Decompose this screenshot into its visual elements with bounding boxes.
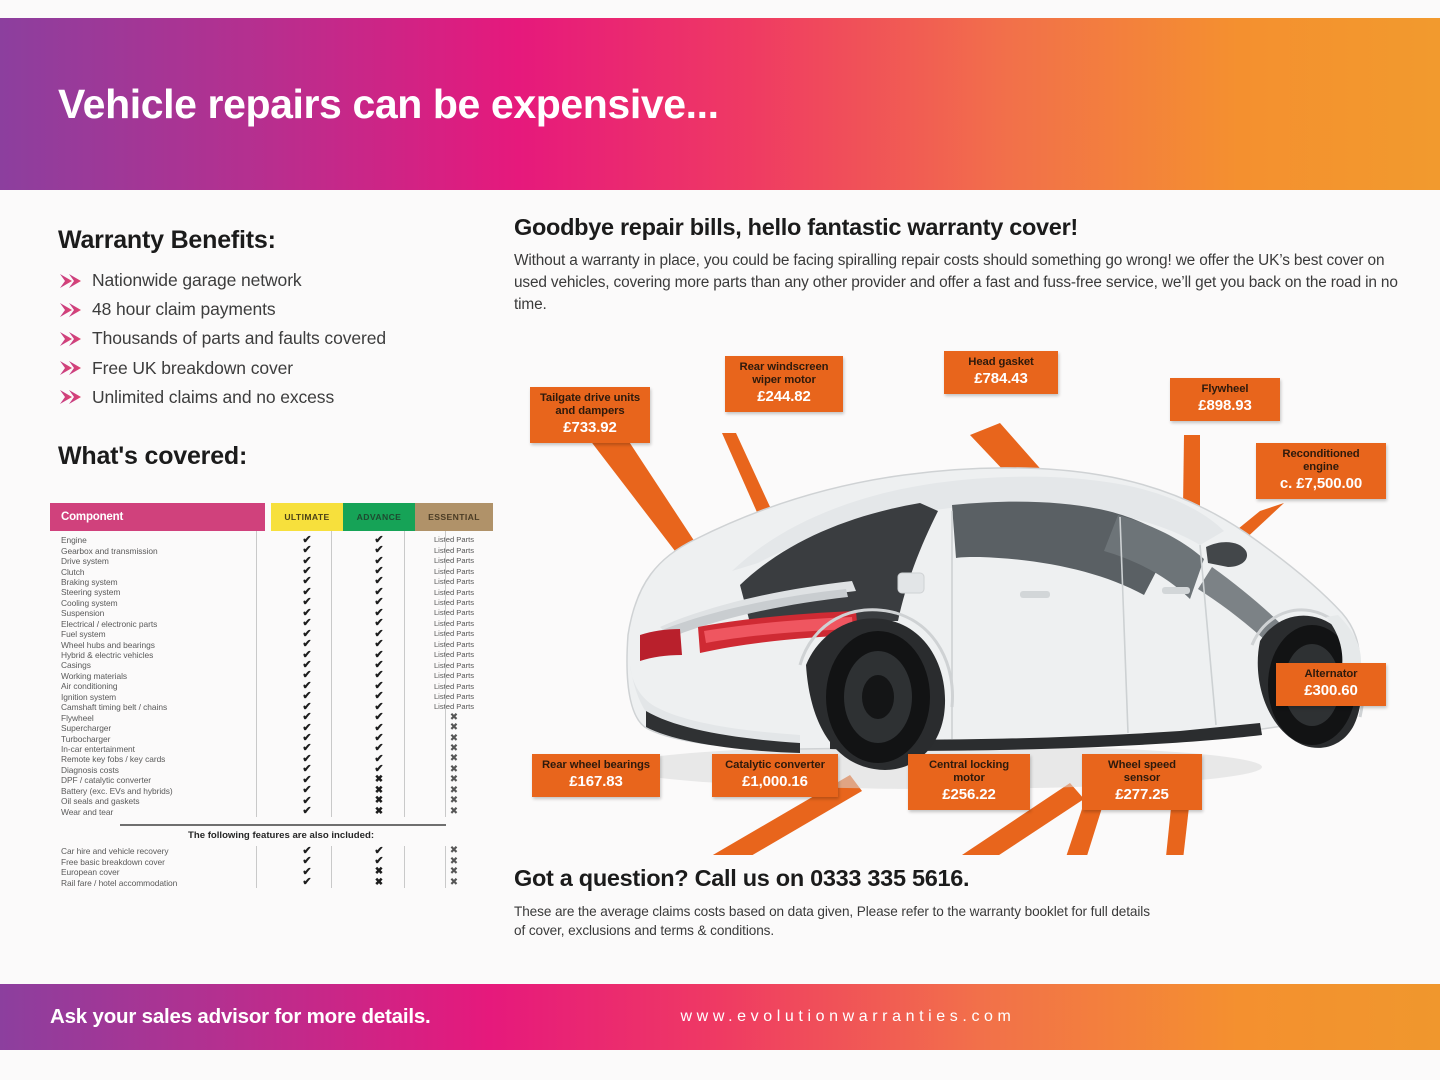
component-name: European cover <box>50 867 265 877</box>
component-name: Casings <box>50 660 265 670</box>
component-name: Drive system <box>50 556 265 566</box>
table-row: In-car entertainment✔✔✖ <box>50 744 446 754</box>
callout-label: Tailgate drive units and dampers <box>538 392 642 418</box>
coverage-table-body: Engine✔✔Listed PartsGearbox and transmis… <box>50 531 446 817</box>
component-name: Free basic breakdown cover <box>50 857 265 867</box>
component-name: Flywheel <box>50 713 265 723</box>
table-row: Fuel system✔✔Listed Parts <box>50 629 446 639</box>
table-row: Clutch✔✔Listed Parts <box>50 566 446 576</box>
callout-price: £898.93 <box>1178 397 1272 415</box>
callout-price: £244.82 <box>733 388 835 406</box>
table-row: Supercharger✔✔✖ <box>50 723 446 733</box>
callout-label: Flywheel <box>1178 383 1272 396</box>
coverage-table: Component ULTIMATE ADVANCE ESSENTIAL Eng… <box>50 503 446 888</box>
footer-website[interactable]: www.evolutionwarranties.com <box>681 1008 1016 1026</box>
component-name: Working materials <box>50 671 265 681</box>
coverage-mark: ✖ <box>415 775 493 785</box>
callout-wheel-speed-sensor[interactable]: Wheel speed sensor £277.25 <box>1082 754 1202 810</box>
callout-price: £1,000.16 <box>720 773 830 791</box>
callout-price: £256.22 <box>916 786 1022 804</box>
table-row: Steering system✔✔Listed Parts <box>50 587 446 597</box>
component-name: Battery (exc. EVs and hybrids) <box>50 786 265 796</box>
table-row: Air conditioning✔✔Listed Parts <box>50 681 446 691</box>
coverage-mark: Listed Parts <box>415 568 493 576</box>
coverage-mark: ✖ <box>415 878 493 888</box>
callout-price: £277.25 <box>1090 786 1194 804</box>
benefit-label: Thousands of parts and faults covered <box>92 328 386 349</box>
column-header-advance: ADVANCE <box>343 503 415 531</box>
component-name: DPF / catalytic converter <box>50 775 265 785</box>
component-name: Remote key fobs / key cards <box>50 754 265 764</box>
footer-banner: Ask your sales advisor for more details.… <box>0 984 1440 1050</box>
warranty-benefits-title: Warranty Benefits: <box>58 226 276 255</box>
callout-label: Reconditioned engine <box>1264 448 1378 474</box>
left-column: Warranty Benefits: Nationwide garage net… <box>0 190 500 970</box>
table-row: Free basic breakdown cover✔✔✖ <box>50 856 446 867</box>
component-name: Wheel hubs and bearings <box>50 640 265 650</box>
callout-rear-windscreen-wiper-motor[interactable]: Rear windscreen wiper motor £244.82 <box>725 356 843 412</box>
component-name: Wear and tear <box>50 807 265 817</box>
callout-tailgate[interactable]: Tailgate drive units and dampers £733.92 <box>530 387 650 443</box>
coverage-mark: Listed Parts <box>415 557 493 565</box>
component-name: In-car entertainment <box>50 744 265 754</box>
coverage-mark: Listed Parts <box>415 683 493 691</box>
callout-flywheel[interactable]: Flywheel £898.93 <box>1170 378 1280 421</box>
chevron-right-icon <box>58 273 84 289</box>
coverage-extras-body: Car hire and vehicle recovery✔✔✖Free bas… <box>50 846 446 888</box>
callout-label: Alternator <box>1284 668 1378 681</box>
component-name: Supercharger <box>50 723 265 733</box>
benefit-label: Free UK breakdown cover <box>92 358 293 379</box>
coverage-mark: Listed Parts <box>415 589 493 597</box>
benefit-item: Free UK breakdown cover <box>58 354 478 383</box>
footer-message: Ask your sales advisor for more details. <box>50 1005 431 1029</box>
coverage-mark: ✖ <box>415 857 493 867</box>
coverage-mark: Listed Parts <box>415 651 493 659</box>
whats-covered-title: What's covered: <box>58 442 247 471</box>
callout-central-locking-motor[interactable]: Central locking motor £256.22 <box>908 754 1030 810</box>
callout-price: £784.43 <box>952 370 1050 388</box>
table-row: Wheel hubs and bearings✔✔Listed Parts <box>50 639 446 649</box>
table-row: Wear and tear✔✖✖ <box>50 806 446 816</box>
right-heading: Goodbye repair bills, hello fantastic wa… <box>514 214 1078 241</box>
table-row: Engine✔✔Listed Parts <box>50 535 446 545</box>
column-header-essential: ESSENTIAL <box>415 503 493 531</box>
benefit-item: Nationwide garage network <box>58 266 478 295</box>
table-row: Gearbox and transmission✔✔Listed Parts <box>50 545 446 555</box>
coverage-mark: ✖ <box>415 754 493 764</box>
coverage-mark: Listed Parts <box>415 620 493 628</box>
component-name: Clutch <box>50 567 265 577</box>
component-name: Diagnosis costs <box>50 765 265 775</box>
table-row: Suspension✔✔Listed Parts <box>50 608 446 618</box>
callout-alternator[interactable]: Alternator £300.60 <box>1276 663 1386 706</box>
table-row: Flywheel✔✔✖ <box>50 712 446 722</box>
callout-rear-wheel-bearings[interactable]: Rear wheel bearings £167.83 <box>532 754 660 797</box>
table-row: Hybrid & electric vehicles✔✔Listed Parts <box>50 650 446 660</box>
component-name: Steering system <box>50 587 265 597</box>
coverage-mark: ✖ <box>415 807 493 817</box>
callout-price: £167.83 <box>540 773 652 791</box>
callout-head-gasket[interactable]: Head gasket £784.43 <box>944 351 1058 394</box>
warranty-benefits-list: Nationwide garage network48 hour claim p… <box>58 266 478 412</box>
coverage-mark: ✖ <box>415 867 493 877</box>
table-row: Working materials✔✔Listed Parts <box>50 671 446 681</box>
coverage-mark: Listed Parts <box>415 536 493 544</box>
chevron-right-icon <box>58 302 84 318</box>
table-row: Cooling system✔✔Listed Parts <box>50 598 446 608</box>
table-row: Turbocharger✔✔✖ <box>50 733 446 743</box>
component-name: Braking system <box>50 577 265 587</box>
component-name: Car hire and vehicle recovery <box>50 846 265 856</box>
table-row: European cover✔✖✖ <box>50 867 446 878</box>
table-row: Oil seals and gaskets✔✖✖ <box>50 796 446 806</box>
table-row: Remote key fobs / key cards✔✔✖ <box>50 754 446 764</box>
chevron-right-icon <box>58 389 84 405</box>
column-header-ultimate: ULTIMATE <box>271 503 343 531</box>
coverage-mark: Listed Parts <box>415 547 493 555</box>
component-name: Air conditioning <box>50 681 265 691</box>
table-row: Casings✔✔Listed Parts <box>50 660 446 670</box>
table-divider <box>120 824 446 826</box>
coverage-mark: ✖ <box>415 796 493 806</box>
car-illustration <box>618 468 1363 789</box>
right-body-text: Without a warranty in place, you could b… <box>514 250 1404 316</box>
table-row: Braking system✔✔Listed Parts <box>50 577 446 587</box>
table-row: Camshaft timing belt / chains✔✔Listed Pa… <box>50 702 446 712</box>
coverage-mark: Listed Parts <box>415 641 493 649</box>
page-title: Vehicle repairs can be expensive... <box>58 81 719 128</box>
poster-page: Vehicle repairs can be expensive... Warr… <box>0 0 1440 1080</box>
callout-reconditioned-engine[interactable]: Reconditioned engine c. £7,500.00 <box>1256 443 1386 499</box>
coverage-mark: ✖ <box>415 846 493 856</box>
coverage-mark: ✔ <box>271 877 343 888</box>
callout-label: Catalytic converter <box>720 759 830 772</box>
component-name: Turbocharger <box>50 734 265 744</box>
component-name: Oil seals and gaskets <box>50 796 265 806</box>
table-row: Electrical / electronic parts✔✔Listed Pa… <box>50 619 446 629</box>
chevron-right-icon <box>58 360 84 376</box>
coverage-mark: Listed Parts <box>415 662 493 670</box>
callout-label: Wheel speed sensor <box>1090 759 1194 785</box>
component-name: Ignition system <box>50 692 265 702</box>
right-column: Goodbye repair bills, hello fantastic wa… <box>500 190 1440 970</box>
header-banner: Vehicle repairs can be expensive... <box>0 18 1440 190</box>
coverage-mark: ✖ <box>415 723 493 733</box>
callout-price: £733.92 <box>538 419 642 437</box>
component-name: Fuel system <box>50 629 265 639</box>
coverage-mark: ✔ <box>271 806 343 817</box>
benefit-label: Nationwide garage network <box>92 270 302 291</box>
table-row: Diagnosis costs✔✔✖ <box>50 765 446 775</box>
column-header-component: Component <box>50 503 265 531</box>
component-name: Engine <box>50 535 265 545</box>
component-name: Suspension <box>50 608 265 618</box>
benefit-item: Unlimited claims and no excess <box>58 383 478 412</box>
benefit-label: Unlimited claims and no excess <box>92 387 334 408</box>
table-row: Drive system✔✔Listed Parts <box>50 556 446 566</box>
coverage-mark: Listed Parts <box>415 630 493 638</box>
component-name: Rail fare / hotel accommodation <box>50 878 265 888</box>
table-row: Car hire and vehicle recovery✔✔✖ <box>50 846 446 857</box>
callout-price: £300.60 <box>1284 682 1378 700</box>
component-name: Cooling system <box>50 598 265 608</box>
coverage-mark: Listed Parts <box>415 609 493 617</box>
table-row: Battery (exc. EVs and hybrids)✔✖✖ <box>50 786 446 796</box>
callout-label: Rear windscreen wiper motor <box>733 361 835 387</box>
component-name: Electrical / electronic parts <box>50 619 265 629</box>
coverage-mark: Listed Parts <box>415 703 493 711</box>
component-name: Hybrid & electric vehicles <box>50 650 265 660</box>
coverage-mark: Listed Parts <box>415 693 493 701</box>
contact-cta: Got a question? Call us on 0333 335 5616… <box>514 865 969 892</box>
chevron-right-icon <box>58 331 84 347</box>
coverage-table-header: Component ULTIMATE ADVANCE ESSENTIAL <box>50 503 446 531</box>
callout-price: c. £7,500.00 <box>1264 475 1378 493</box>
coverage-mark: Listed Parts <box>415 578 493 586</box>
coverage-mark: Listed Parts <box>415 599 493 607</box>
coverage-mark: Listed Parts <box>415 672 493 680</box>
callout-catalytic-converter[interactable]: Catalytic converter £1,000.16 <box>712 754 838 797</box>
benefit-item: Thousands of parts and faults covered <box>58 324 478 353</box>
benefit-label: 48 hour claim payments <box>92 299 276 320</box>
disclaimer-text: These are the average claims costs based… <box>514 902 1154 940</box>
extras-title: The following features are also included… <box>116 830 446 841</box>
table-row: Ignition system✔✔Listed Parts <box>50 692 446 702</box>
table-row: Rail fare / hotel accommodation✔✖✖ <box>50 878 446 889</box>
callout-label: Head gasket <box>952 356 1050 369</box>
benefit-item: 48 hour claim payments <box>58 295 478 324</box>
callout-label: Central locking motor <box>916 759 1022 785</box>
component-name: Gearbox and transmission <box>50 546 265 556</box>
table-row: DPF / catalytic converter✔✖✖ <box>50 775 446 785</box>
component-name: Camshaft timing belt / chains <box>50 702 265 712</box>
vehicle-cost-diagram: Tailgate drive units and dampers £733.92… <box>500 335 1440 855</box>
callout-label: Rear wheel bearings <box>540 759 652 772</box>
